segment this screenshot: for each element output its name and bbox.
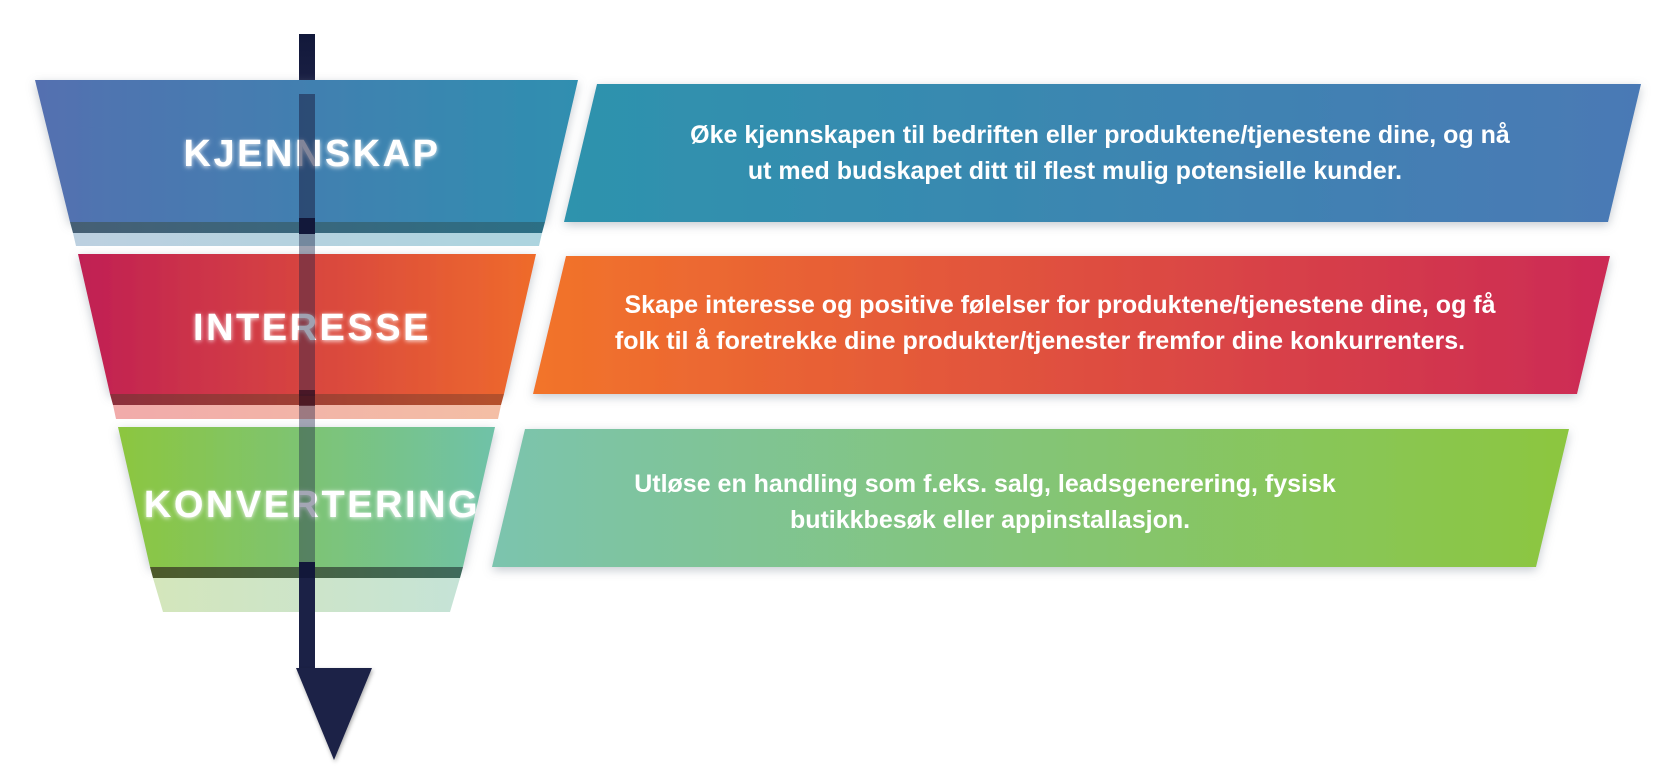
funnel-banner-interesse[interactable]: Skape interesse og positive følelser for… bbox=[533, 256, 1610, 394]
funnel-diagram-canvas: KJENNSKAP Øke kjennskapen til bedriften … bbox=[0, 0, 1680, 776]
funnel-diagram: KJENNSKAP Øke kjennskapen til bedriften … bbox=[0, 0, 1680, 776]
funnel-banner-kjennskap[interactable]: Øke kjennskapen til bedriften eller prod… bbox=[564, 84, 1641, 222]
banner-line-konvertering-2: butikkbesøk eller appinstallasjon. bbox=[790, 506, 1190, 534]
arrow-shaft-over-stage-2 bbox=[299, 234, 315, 396]
arrow-shaft-over-stage-3 bbox=[299, 406, 315, 566]
banner-line-interesse-1: Skape interesse og positive følelser for… bbox=[624, 291, 1495, 319]
arrow-shaft-joint-2 bbox=[299, 390, 315, 406]
banner-shape-konvertering[interactable] bbox=[492, 429, 1569, 567]
banner-shape-kjennskap[interactable] bbox=[564, 84, 1641, 222]
arrow-shaft-joint-1 bbox=[299, 218, 315, 234]
banner-shape-interesse[interactable] bbox=[533, 256, 1610, 394]
arrow-shaft-bottom bbox=[299, 578, 315, 670]
arrow-head-icon bbox=[296, 668, 372, 760]
banner-line-kjennskap-1: Øke kjennskapen til bedriften eller prod… bbox=[690, 121, 1510, 149]
banner-line-konvertering-1: Utløse en handling som f.eks. salg, lead… bbox=[634, 470, 1336, 498]
funnel-banner-konvertering[interactable]: Utløse en handling som f.eks. salg, lead… bbox=[492, 429, 1569, 567]
arrow-shaft-joint-3 bbox=[299, 562, 315, 578]
banner-line-interesse-2: folk til å foretrekke dine produkter/tje… bbox=[615, 327, 1465, 355]
arrow-shaft-over-stage-1 bbox=[299, 94, 315, 226]
banner-line-kjennskap-2: ut med budskapet ditt til flest mulig po… bbox=[748, 157, 1402, 185]
